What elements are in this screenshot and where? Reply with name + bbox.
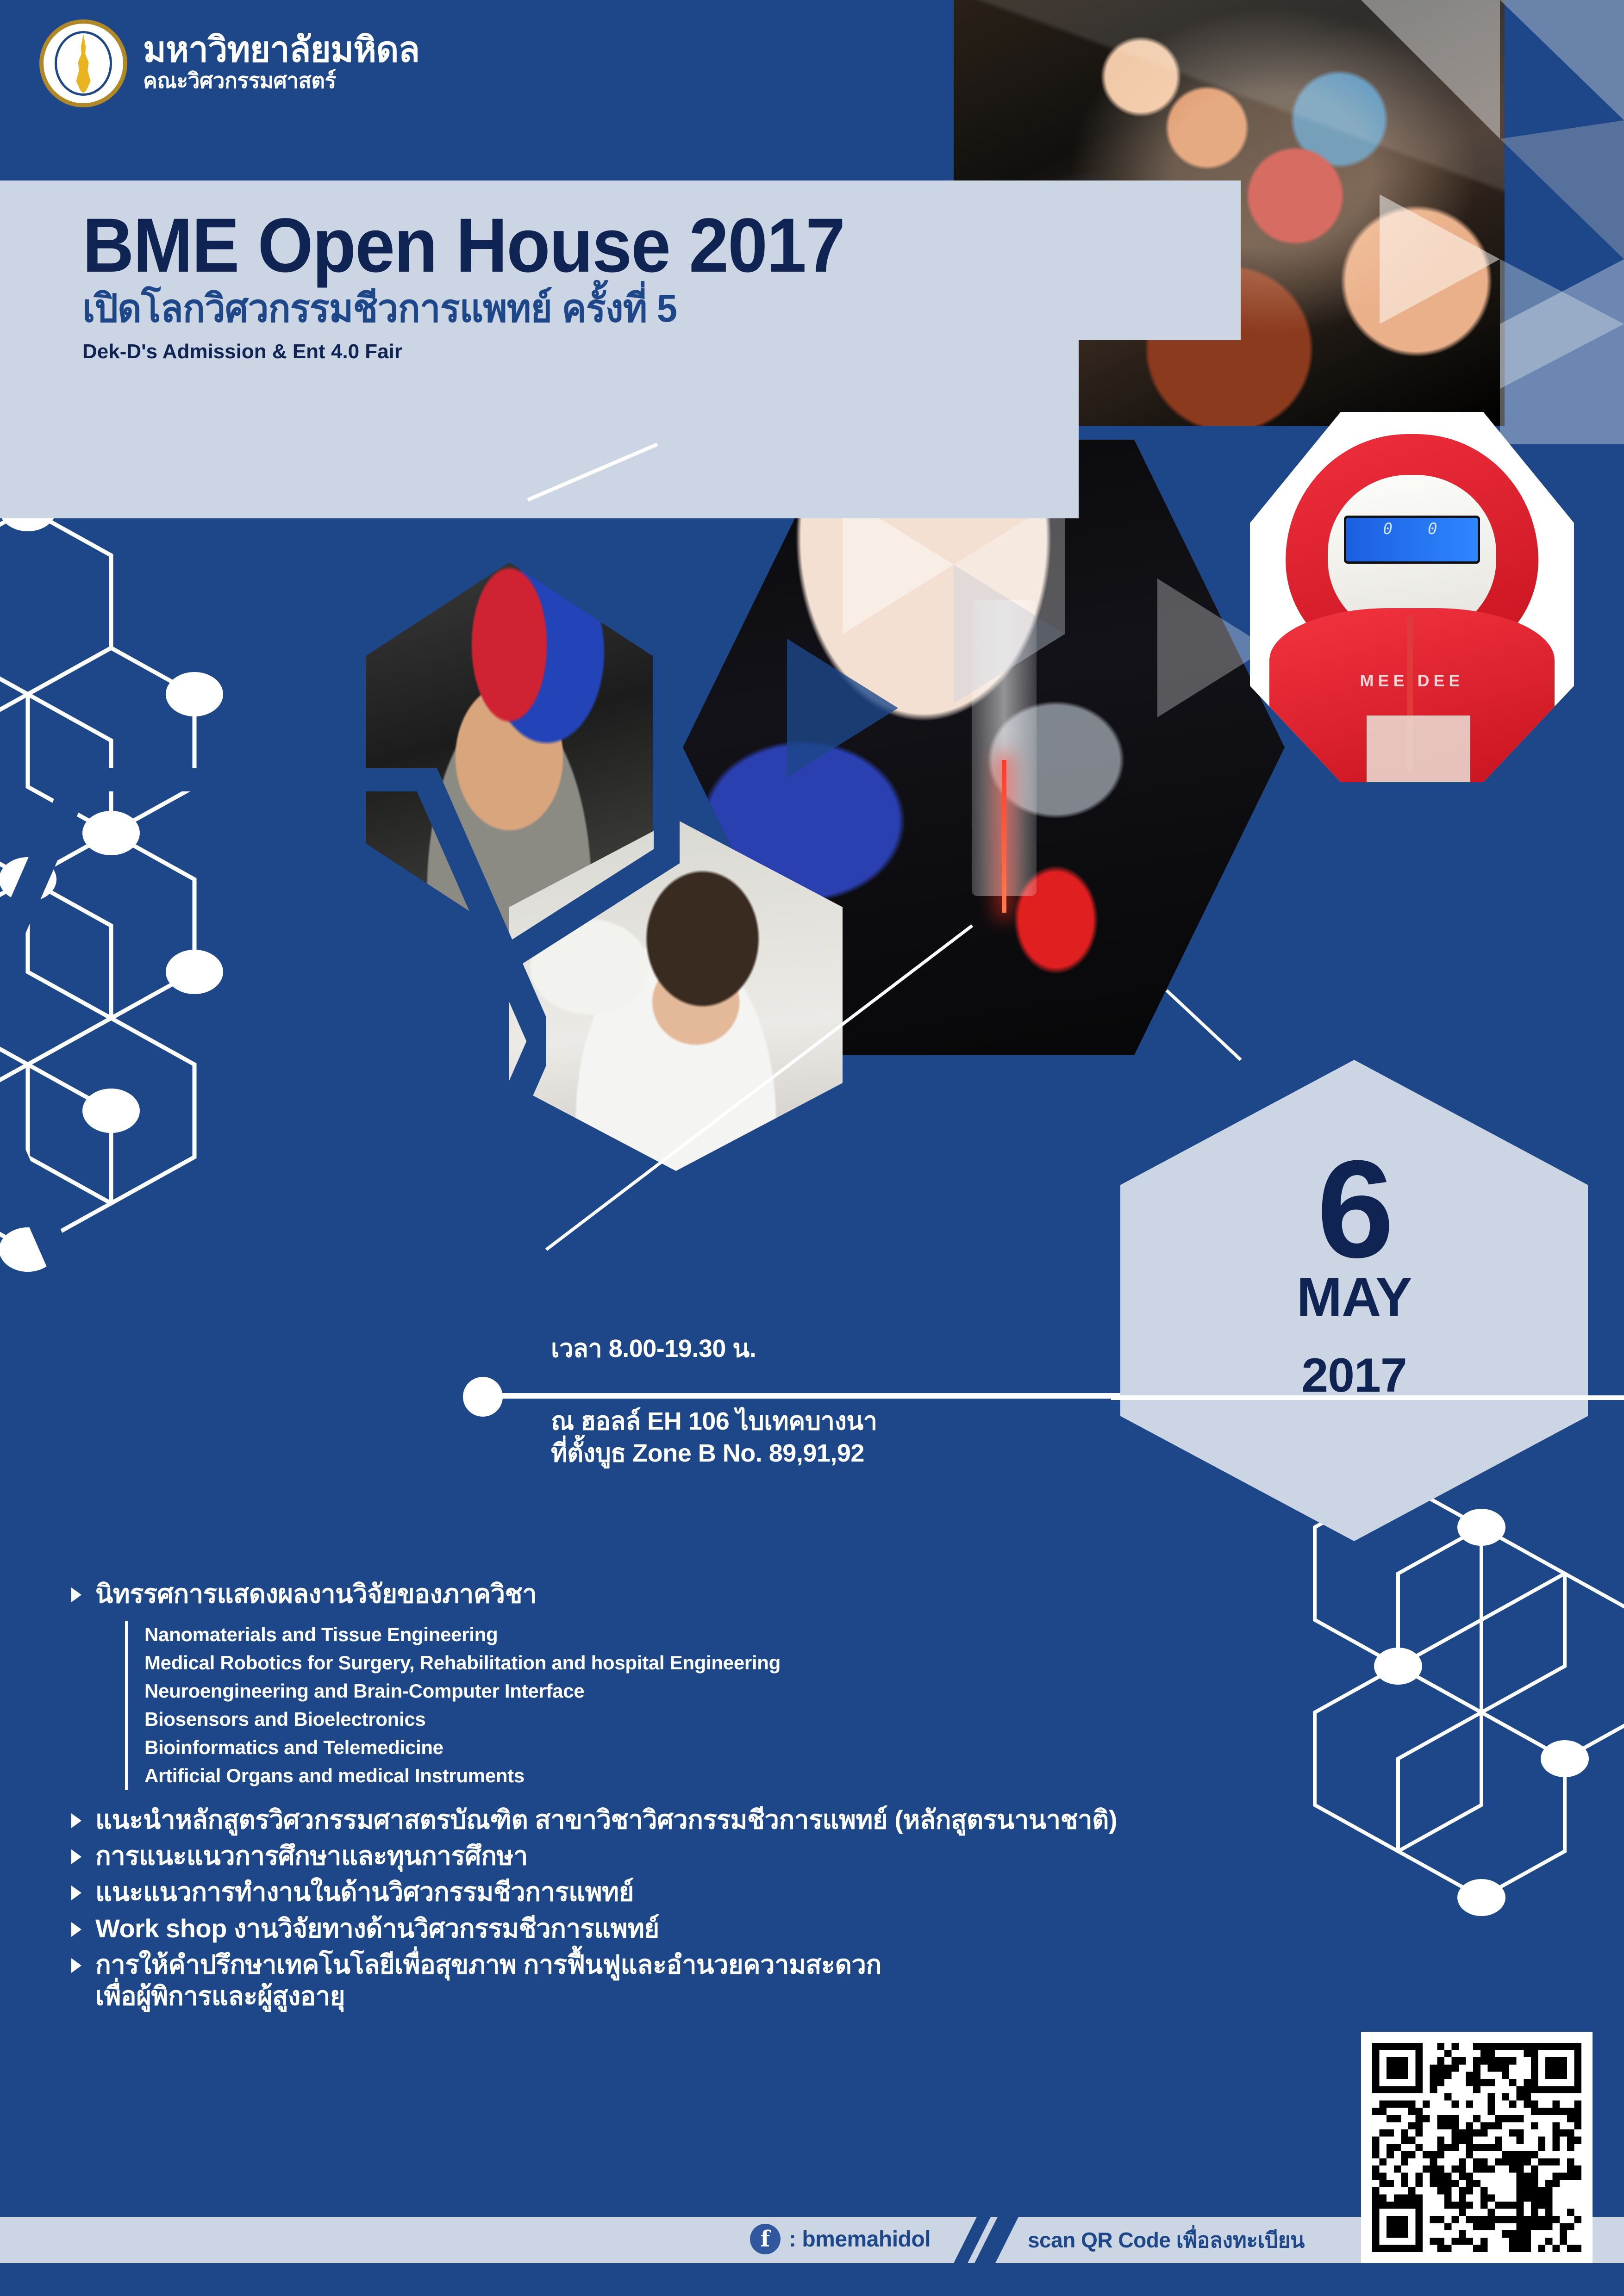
research-topic-item: Artificial Organs and medical Instrument… (144, 1762, 1505, 1790)
program-list-item-label: แนะแนวการทำงานในด้านวิศวกรรมชีวการแพทย์ (95, 1876, 634, 1908)
research-topic-item: Medical Robotics for Surgery, Rehabilita… (144, 1649, 1505, 1677)
hex-network-left (0, 454, 361, 1333)
event-time: เวลา 8.00-19.30 น. (551, 1333, 877, 1365)
program-list-item: นิทรรศการแสดงผลงานวิจัยของภาควิชา (69, 1578, 1505, 1610)
laser-beam (1002, 760, 1006, 913)
slash-divider (949, 2217, 1032, 2263)
date-day: 6 (1317, 1139, 1392, 1278)
research-topic-item: Biosensors and Bioelectronics (144, 1705, 1505, 1734)
arrow-right-icon (69, 1848, 83, 1866)
registration-qr-code[interactable] (1361, 2032, 1593, 2263)
research-topic-item: Neuroengineering and Brain-Computer Inte… (144, 1677, 1505, 1705)
robot-display-icon (1344, 516, 1480, 564)
program-list-item-label: แนะนำหลักสูตรวิศวกรรมศาสตรบัณฑิต สาขาวิช… (95, 1804, 1117, 1836)
date-hexagon: 6 MAY 2017 (1120, 1060, 1588, 1541)
arrow-right-icon (69, 1586, 83, 1604)
facebook-link[interactable]: f : bmemahidol (750, 2224, 931, 2254)
event-venue: ณ ฮอลล์ EH 106 ไบเทคบางนา (551, 1406, 877, 1437)
program-list-item: แนะนำหลักสูตรวิศวกรรมศาสตรบัณฑิต สาขาวิช… (69, 1804, 1505, 1836)
mahidol-seal-icon (39, 19, 127, 107)
arrow-right-icon (69, 1884, 83, 1902)
arrow-right-icon (69, 1956, 83, 1977)
arrow-right-icon (69, 1811, 83, 1832)
event-info: เวลา 8.00-19.30 น. ณ ฮอลล์ EH 106 ไบเทคบ… (551, 1333, 877, 1469)
title-block: BME Open House 2017 เปิดโลกวิศวกรรมชีวกา… (82, 211, 902, 363)
robot-circuit-board (1367, 716, 1470, 782)
arrow-right-icon (69, 1920, 83, 1941)
program-list-item-label: นิทรรศการแสดงผลงานวิจัยของภาควิชา (95, 1578, 537, 1610)
program-list-item-label: การให้คำปรึกษาเทคโนโลยีเพื่อสุขภาพ การฟื… (95, 1949, 881, 2012)
page-subtitle-th: เปิดโลกวิศวกรรมชีวการแพทย์ ครั้งที่ 5 (82, 288, 861, 329)
program-list-item-label: การแนะแนวการศึกษาและทุนการศึกษา (95, 1840, 528, 1872)
faculty-name: คณะวิศวกรรมศาสตร์ (143, 68, 419, 94)
program-list-item: การให้คำปรึกษาเทคโนโลยีเพื่อสุขภาพ การฟื… (69, 1949, 1505, 2012)
research-topic-item: Bioinformatics and Telemedicine (144, 1734, 1505, 1762)
facebook-handle: : bmemahidol (789, 2227, 931, 2252)
arrow-right-icon (69, 1956, 83, 1975)
date-month: MAY (1297, 1270, 1412, 1325)
brand-logo: มหาวิทยาลัยมหิดล คณะวิศวกรรมศาสตร์ (39, 19, 419, 107)
robot-name-label: MEE DEE (1250, 671, 1574, 691)
program-list-item: การแนะแนวการศึกษาและทุนการศึกษา (69, 1840, 1505, 1872)
research-topic-list: Nanomaterials and Tissue EngineeringMedi… (125, 1621, 1505, 1790)
qr-code-icon (1372, 2043, 1581, 2252)
program-list-item: แนะแนวการทำงานในด้านวิศวกรรมชีวการแพทย์ (69, 1876, 1505, 1908)
program-list-item-label: Work shop งานวิจัยทางด้านวิศวกรรมชีวการแ… (95, 1913, 659, 1944)
event-booth: ที่ตั้งบูธ Zone B No. 89,91,92 (551, 1437, 877, 1469)
program-list-item: Work shop งานวิจัยทางด้านวิศวกรรมชีวการแ… (69, 1913, 1505, 1944)
arrow-right-icon (69, 1811, 83, 1830)
arrow-right-icon (69, 1884, 83, 1904)
university-name: มหาวิทยาลัยมหิดล (143, 32, 419, 68)
qr-banner: scan QR Code เพื่อลงทะเบียน (1000, 2217, 1352, 2263)
arrow-right-icon (69, 1848, 83, 1868)
arrow-right-icon (69, 1920, 83, 1939)
qr-banner-text: scan QR Code เพื่อลงทะเบียน (1028, 2223, 1305, 2257)
research-topic-item: Nanomaterials and Tissue Engineering (144, 1621, 1505, 1649)
date-hexagon-rule (1111, 1395, 1624, 1400)
poster-root: Haptic-Laparo Surgical Training MEE DEE … (0, 0, 1624, 2296)
page-tagline: Dek-D's Admission & Ent 4.0 Fair (82, 341, 902, 363)
robot-photo: MEE DEE (1250, 412, 1574, 782)
date-year: 2017 (1301, 1351, 1406, 1400)
footer-bottom-bar (0, 2263, 1624, 2296)
program-list: นิทรรศการแสดงผลงานวิจัยของภาควิชาNanomat… (69, 1578, 1505, 2017)
facebook-icon: f (750, 2224, 781, 2254)
page-title: BME Open House 2017 (82, 211, 844, 281)
arrow-right-icon (69, 1586, 83, 1606)
